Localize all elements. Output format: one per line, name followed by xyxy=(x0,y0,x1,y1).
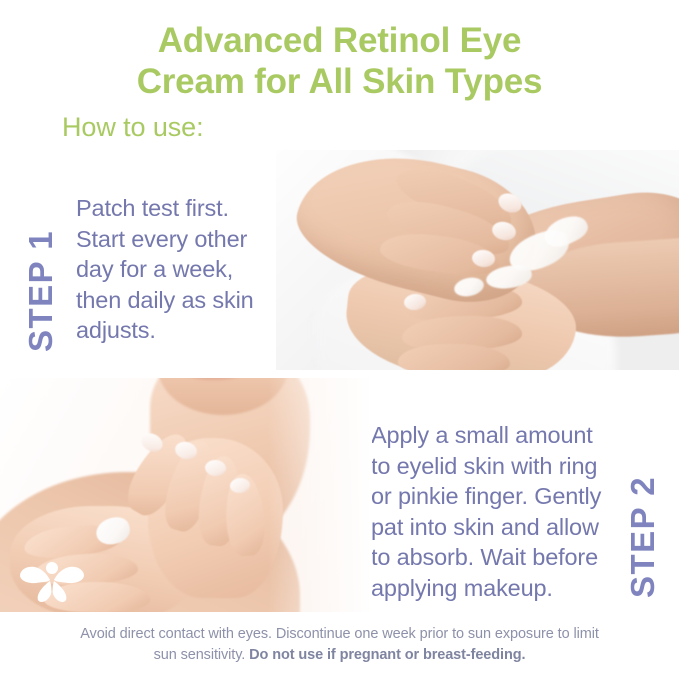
disclaimer-line-2: sun sensitivity. Do not use if pregnant … xyxy=(0,645,679,666)
step-1-text: Patch test first. Start every other day … xyxy=(76,193,301,346)
step-1-label: STEP 1 xyxy=(22,230,60,352)
disclaimer-bold: Do not use if pregnant or breast-feeding… xyxy=(249,647,525,663)
step-2-line-3: or pinkie finger. Gently xyxy=(371,481,616,512)
step-2-line-5: to absorb. Wait before xyxy=(371,542,616,573)
disclaimer: Avoid direct contact with eyes. Disconti… xyxy=(0,624,679,666)
step-2-line-2: to eyelid skin with ring xyxy=(371,451,616,482)
disclaimer-normal: sun sensitivity. xyxy=(154,647,250,663)
step-1-line-1: Patch test first. xyxy=(76,193,301,224)
how-to-use-label: How to use: xyxy=(62,113,203,143)
disclaimer-line-1: Avoid direct contact with eyes. Disconti… xyxy=(0,624,679,645)
step-1-photo xyxy=(276,150,679,370)
step-2-photo xyxy=(0,378,372,612)
step-2-line-6: applying makeup. xyxy=(371,573,616,604)
infographic-canvas: Advanced Retinol Eye Cream for All Skin … xyxy=(0,0,679,679)
page-title: Advanced Retinol Eye Cream for All Skin … xyxy=(0,20,679,103)
step-2-line-4: pat into skin and allow xyxy=(371,512,616,543)
step-1-line-4: then daily as skin xyxy=(76,285,301,316)
step-1-line-2: Start every other xyxy=(76,224,301,255)
step-1-line-3: day for a week, xyxy=(76,254,301,285)
butterfly-icon xyxy=(16,556,88,604)
step-2-text: Apply a small amount to eyelid skin with… xyxy=(371,420,616,603)
step-2-label: STEP 2 xyxy=(624,476,662,598)
title-line-2: Cream for All Skin Types xyxy=(0,61,679,102)
step-1-line-5: adjusts. xyxy=(76,315,301,346)
title-line-1: Advanced Retinol Eye xyxy=(0,20,679,61)
step-2-line-1: Apply a small amount xyxy=(371,420,616,451)
